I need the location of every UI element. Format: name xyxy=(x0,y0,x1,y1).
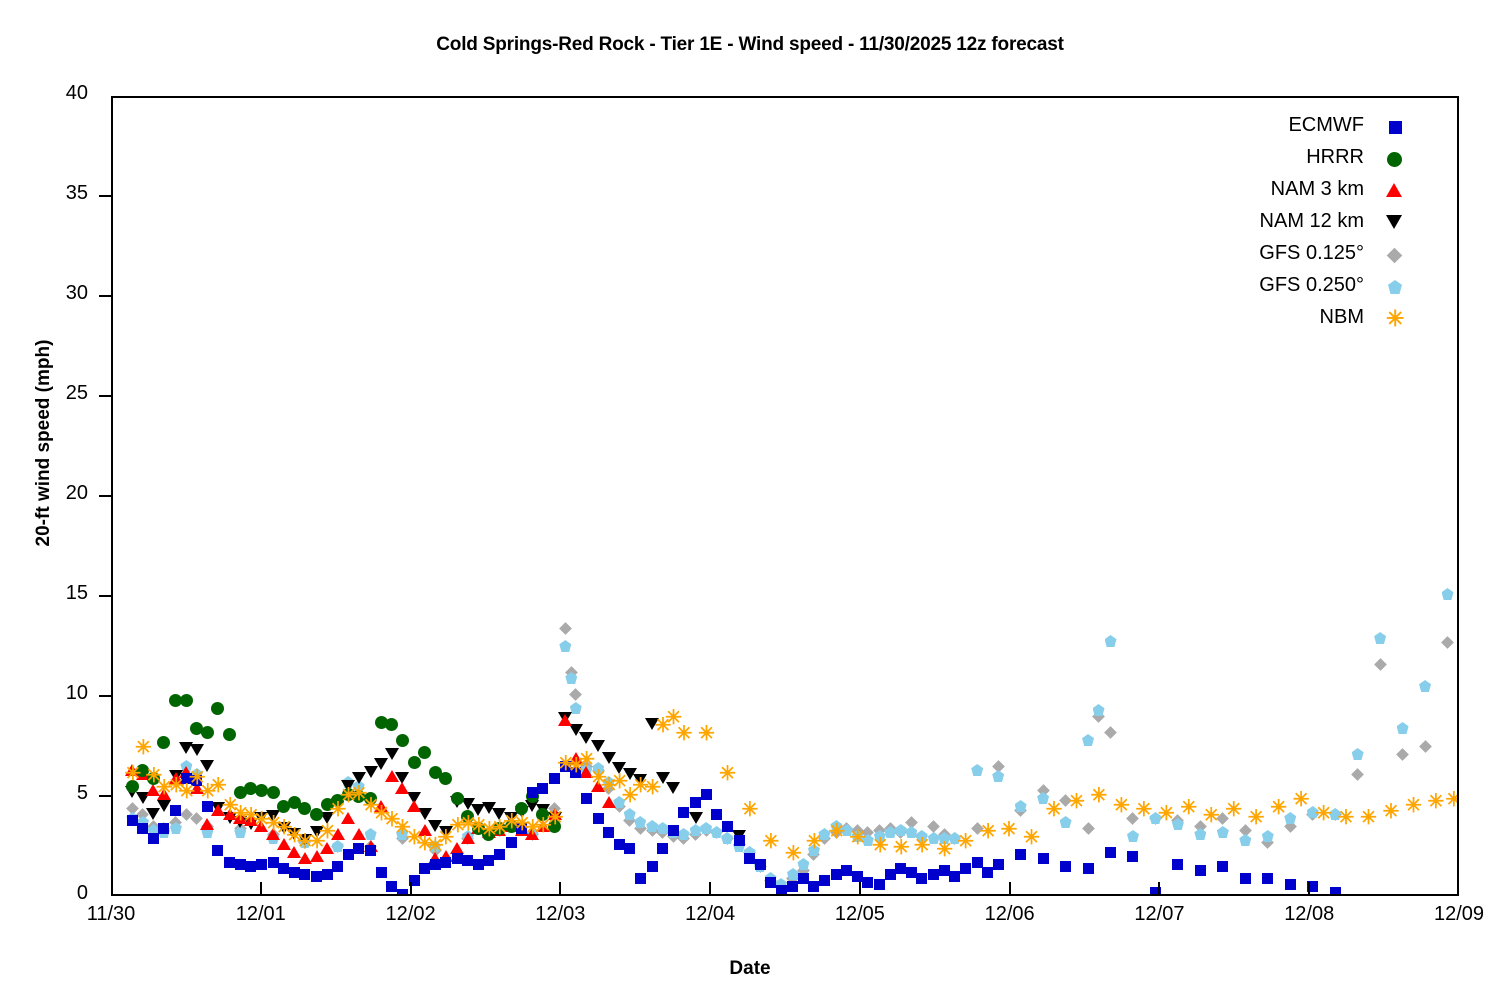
data-point xyxy=(243,808,259,824)
data-point xyxy=(418,808,432,820)
data-point xyxy=(342,776,354,788)
data-point xyxy=(494,849,505,860)
data-point xyxy=(211,804,225,816)
data-point xyxy=(1037,784,1050,797)
data-point xyxy=(536,820,550,832)
data-point xyxy=(656,826,669,839)
data-point xyxy=(147,824,159,836)
data-point xyxy=(483,855,494,866)
data-point xyxy=(364,840,378,852)
data-point xyxy=(1195,865,1206,876)
data-point xyxy=(1172,818,1184,830)
data-point xyxy=(690,797,701,808)
y-tick-label: 25 xyxy=(28,382,88,405)
data-point xyxy=(428,820,442,832)
data-point xyxy=(180,760,192,772)
data-point xyxy=(156,780,172,796)
data-point xyxy=(972,857,983,868)
data-point xyxy=(592,762,604,774)
legend-item-gfs-0-125[interactable]: GFS 0.125° xyxy=(1180,238,1410,270)
data-point xyxy=(126,812,138,824)
data-point xyxy=(418,746,431,759)
legend-item-gfs-0-250[interactable]: GFS 0.250° xyxy=(1180,270,1410,302)
data-point xyxy=(298,852,312,864)
data-point xyxy=(549,773,560,784)
data-point xyxy=(407,792,421,804)
data-point xyxy=(559,640,571,652)
data-point xyxy=(655,718,671,734)
data-point xyxy=(548,802,561,815)
data-point xyxy=(613,796,625,808)
data-point xyxy=(1014,804,1027,817)
legend-label: NAM 12 km xyxy=(1184,206,1364,236)
data-point xyxy=(157,800,171,812)
data-point xyxy=(440,857,451,868)
data-point xyxy=(787,881,798,892)
data-point xyxy=(590,770,606,786)
data-point xyxy=(396,832,409,845)
data-point xyxy=(450,842,464,854)
data-point xyxy=(364,840,377,853)
data-point xyxy=(201,726,214,739)
data-point xyxy=(992,770,1004,782)
data-point xyxy=(1374,632,1386,644)
data-point xyxy=(309,834,325,850)
data-point xyxy=(190,722,203,735)
data-point xyxy=(526,828,539,841)
x-tick-label: 12/04 xyxy=(650,903,770,926)
data-point xyxy=(342,788,355,801)
data-point xyxy=(397,889,408,895)
data-point xyxy=(223,812,237,824)
data-point xyxy=(1194,828,1206,840)
data-point xyxy=(232,806,248,822)
data-point xyxy=(493,824,506,837)
data-point xyxy=(245,861,256,872)
x-tick-label: 12/07 xyxy=(1099,903,1219,926)
data-point xyxy=(646,820,658,832)
data-point xyxy=(785,846,801,862)
data-point xyxy=(125,786,139,798)
data-point xyxy=(439,772,452,785)
data-point xyxy=(482,826,496,838)
chart-title: Cold Springs-Red Rock - Tier 1E - Wind s… xyxy=(0,34,1500,56)
data-point xyxy=(1149,812,1162,825)
data-point xyxy=(504,820,518,832)
data-point xyxy=(331,840,344,853)
data-point xyxy=(310,850,324,862)
legend-item-nam-3-km[interactable]: NAM 3 km xyxy=(1180,174,1410,206)
data-point xyxy=(698,726,714,742)
legend-item-nam-12-km[interactable]: NAM 12 km xyxy=(1180,206,1410,238)
y-tick-mark xyxy=(99,795,111,797)
y-tick-label: 10 xyxy=(28,682,88,705)
data-point xyxy=(689,828,702,841)
data-point xyxy=(647,861,658,872)
data-point xyxy=(363,798,379,814)
data-point xyxy=(559,622,572,635)
data-point xyxy=(1446,792,1458,808)
data-point xyxy=(1285,879,1296,890)
data-point xyxy=(1262,873,1273,884)
data-point xyxy=(665,710,681,726)
data-point xyxy=(1307,806,1319,818)
data-point xyxy=(1352,748,1364,760)
data-point xyxy=(244,818,258,830)
data-point xyxy=(592,764,605,777)
data-point xyxy=(1158,806,1174,822)
data-point xyxy=(1262,830,1274,842)
data-point xyxy=(254,820,268,832)
data-point xyxy=(623,814,636,827)
data-point xyxy=(504,812,518,824)
data-point xyxy=(179,742,193,754)
data-point xyxy=(1216,812,1229,825)
data-point xyxy=(1172,859,1183,870)
data-point xyxy=(734,835,745,846)
y-axis-label: 20-ft wind speed (mph) xyxy=(33,43,55,843)
data-point xyxy=(158,822,171,835)
data-point xyxy=(635,873,646,884)
data-point xyxy=(690,824,702,836)
data-point xyxy=(438,830,454,846)
data-point xyxy=(407,800,421,812)
data-point xyxy=(632,778,648,794)
legend-item-hrrr[interactable]: HRRR xyxy=(1180,142,1410,174)
data-point xyxy=(1270,800,1286,816)
data-point xyxy=(223,728,236,741)
data-point xyxy=(851,830,863,842)
data-point xyxy=(460,816,476,832)
data-point xyxy=(200,818,214,830)
data-point xyxy=(158,826,170,838)
y-tick-mark xyxy=(99,595,111,597)
data-point xyxy=(818,828,830,840)
data-point xyxy=(492,808,506,820)
data-point xyxy=(971,822,984,835)
y-tick-mark xyxy=(99,395,111,397)
data-point xyxy=(568,758,584,774)
data-point xyxy=(701,789,712,800)
data-point xyxy=(210,778,226,794)
data-point xyxy=(1293,792,1309,808)
data-point xyxy=(341,780,355,792)
data-point xyxy=(1038,853,1049,864)
data-point xyxy=(394,820,410,836)
data-point xyxy=(493,822,506,835)
data-point xyxy=(830,820,842,832)
data-point xyxy=(916,830,928,842)
data-point xyxy=(1149,812,1161,824)
data-point xyxy=(558,714,572,726)
data-point xyxy=(180,694,193,707)
data-point xyxy=(430,859,441,870)
data-point xyxy=(211,702,224,715)
data-point xyxy=(593,813,604,824)
data-point xyxy=(190,744,204,756)
data-point xyxy=(340,788,356,804)
y-tick-label: 5 xyxy=(28,782,88,805)
data-point xyxy=(851,824,864,837)
data-point xyxy=(506,837,517,848)
data-point xyxy=(644,780,660,796)
data-point xyxy=(874,879,885,890)
data-point xyxy=(244,814,258,826)
data-point xyxy=(515,824,529,836)
data-point xyxy=(299,836,311,848)
data-point xyxy=(548,812,562,824)
data-point xyxy=(136,768,150,780)
data-point xyxy=(1135,802,1151,818)
legend-item-ecmwf[interactable]: ECMWF xyxy=(1180,110,1410,142)
data-point xyxy=(744,846,756,858)
data-point xyxy=(1360,810,1376,826)
data-point xyxy=(157,788,171,800)
x-tick-label: 12/02 xyxy=(351,903,471,926)
data-point xyxy=(470,818,486,834)
data-point xyxy=(491,820,507,836)
data-point xyxy=(1405,798,1421,814)
data-point xyxy=(678,828,690,840)
data-point xyxy=(581,793,592,804)
data-point xyxy=(343,849,354,860)
data-point xyxy=(492,824,506,836)
data-point xyxy=(1172,814,1185,827)
data-point xyxy=(657,843,668,854)
y-tick-label: 35 xyxy=(28,182,88,205)
data-point xyxy=(265,816,281,832)
data-point xyxy=(1105,847,1116,858)
data-point xyxy=(146,784,160,796)
data-point xyxy=(127,815,138,826)
data-point xyxy=(895,824,907,836)
data-point xyxy=(548,820,561,833)
data-point xyxy=(202,801,213,812)
data-point xyxy=(503,814,519,830)
data-point xyxy=(1113,798,1129,814)
data-point xyxy=(147,820,160,833)
data-point xyxy=(547,810,563,826)
data-point xyxy=(235,859,246,870)
data-point xyxy=(514,816,530,832)
data-point xyxy=(375,716,388,729)
data-point xyxy=(125,764,139,776)
data-point xyxy=(126,780,139,793)
data-point xyxy=(570,767,581,778)
data-point xyxy=(830,826,843,839)
data-point xyxy=(742,802,758,818)
data-point xyxy=(1180,800,1196,816)
data-point xyxy=(711,809,722,820)
data-point xyxy=(199,784,215,800)
data-point xyxy=(287,828,301,840)
data-point xyxy=(1306,808,1319,821)
data-point xyxy=(711,826,723,838)
data-point xyxy=(1127,812,1140,825)
data-point xyxy=(364,792,377,805)
data-point xyxy=(536,808,549,821)
data-point xyxy=(233,812,247,824)
data-point xyxy=(505,820,518,833)
hexagon-icon xyxy=(1388,280,1402,294)
data-point xyxy=(580,760,593,773)
data-point xyxy=(297,834,313,850)
data-point xyxy=(1419,740,1432,753)
data-point xyxy=(754,860,767,873)
data-point xyxy=(158,823,169,834)
data-point xyxy=(278,863,289,874)
data-point xyxy=(1396,748,1409,761)
data-point xyxy=(212,845,223,856)
data-point xyxy=(439,826,453,838)
data-point xyxy=(862,826,875,839)
data-point xyxy=(613,800,626,813)
circle-icon xyxy=(1387,152,1402,167)
data-point xyxy=(591,780,605,792)
data-point xyxy=(1023,830,1039,846)
data-point xyxy=(1194,820,1207,833)
data-point xyxy=(277,800,290,813)
data-point xyxy=(418,824,432,836)
data-point xyxy=(602,752,616,764)
data-point xyxy=(894,826,907,839)
data-point xyxy=(224,857,235,868)
data-point xyxy=(1203,808,1219,824)
data-point xyxy=(1091,788,1107,804)
data-point xyxy=(700,822,712,834)
data-point xyxy=(320,842,334,854)
data-point xyxy=(579,732,593,744)
data-point xyxy=(364,766,378,778)
data-point xyxy=(797,858,809,870)
data-point xyxy=(535,818,551,834)
data-point xyxy=(949,871,960,882)
legend-label: NAM 3 km xyxy=(1184,174,1364,204)
data-point xyxy=(624,843,635,854)
data-point xyxy=(872,838,888,854)
data-point xyxy=(808,881,819,892)
x-tick-mark xyxy=(1009,882,1011,896)
data-point xyxy=(332,861,343,872)
data-point xyxy=(493,824,505,836)
data-point xyxy=(276,820,292,836)
data-point xyxy=(1225,802,1241,818)
data-point xyxy=(298,802,311,815)
data-point xyxy=(578,752,594,768)
data-point xyxy=(277,822,291,834)
x-tick-label: 12/01 xyxy=(201,903,321,926)
data-point xyxy=(170,805,181,816)
data-point xyxy=(1093,704,1105,716)
data-point xyxy=(938,828,951,841)
data-point xyxy=(915,830,928,843)
data-point xyxy=(1104,726,1117,739)
data-point xyxy=(754,860,766,872)
data-point xyxy=(536,804,550,816)
data-point xyxy=(873,824,886,837)
data-point xyxy=(569,724,583,736)
data-point xyxy=(170,816,183,829)
data-point xyxy=(1284,820,1297,833)
data-point xyxy=(277,838,291,850)
data-point xyxy=(527,787,538,798)
data-point xyxy=(558,712,572,724)
data-point xyxy=(374,758,388,770)
data-point xyxy=(286,828,302,844)
data-point xyxy=(645,718,659,730)
data-point xyxy=(992,760,1005,773)
data-point xyxy=(591,740,605,752)
data-point xyxy=(266,810,280,822)
data-point xyxy=(1037,792,1049,804)
data-point xyxy=(332,840,344,852)
data-point xyxy=(419,863,430,874)
data-point xyxy=(526,828,538,840)
data-point xyxy=(146,808,160,820)
data-point xyxy=(721,832,733,844)
data-point xyxy=(906,867,917,878)
data-point xyxy=(200,760,214,772)
data-point xyxy=(1105,635,1117,647)
data-point xyxy=(299,869,310,880)
data-point xyxy=(1059,794,1072,807)
data-point xyxy=(602,782,615,795)
data-point xyxy=(656,772,670,784)
data-point xyxy=(732,830,746,842)
data-point xyxy=(1060,861,1071,872)
legend-item-nbm[interactable]: NBM xyxy=(1180,302,1410,334)
data-point xyxy=(395,772,409,784)
data-point xyxy=(1397,722,1409,734)
data-point xyxy=(722,821,733,832)
data-point xyxy=(905,816,918,829)
y-tick-label: 20 xyxy=(28,482,88,505)
x-tick-mark xyxy=(709,882,711,896)
data-point xyxy=(376,867,387,878)
data-point xyxy=(818,832,831,845)
data-point xyxy=(569,752,583,764)
y-tick-label: 40 xyxy=(28,82,88,105)
x-tick-mark xyxy=(1308,882,1310,896)
data-point xyxy=(1239,824,1252,837)
data-point xyxy=(137,808,150,821)
data-point xyxy=(126,802,139,815)
y-tick-label: 0 xyxy=(28,882,88,905)
data-point xyxy=(341,812,355,824)
data-point xyxy=(211,802,225,814)
data-point xyxy=(320,812,334,824)
x-axis-label: Date xyxy=(0,958,1500,980)
data-point xyxy=(191,812,204,825)
data-point xyxy=(980,824,996,840)
data-point xyxy=(266,828,280,840)
data-point xyxy=(384,812,400,828)
data-point xyxy=(852,871,863,882)
asterisk-icon xyxy=(1386,311,1402,327)
data-point xyxy=(234,786,247,799)
x-tick-mark xyxy=(1158,882,1160,896)
y-tick-label: 15 xyxy=(28,582,88,605)
data-point xyxy=(168,778,184,794)
data-point xyxy=(689,812,703,824)
data-point xyxy=(1217,861,1228,872)
data-point xyxy=(319,824,335,840)
data-point xyxy=(603,827,614,838)
data-point xyxy=(449,818,465,834)
x-tick-mark xyxy=(260,882,262,896)
data-point xyxy=(623,768,637,780)
data-point xyxy=(516,823,527,834)
